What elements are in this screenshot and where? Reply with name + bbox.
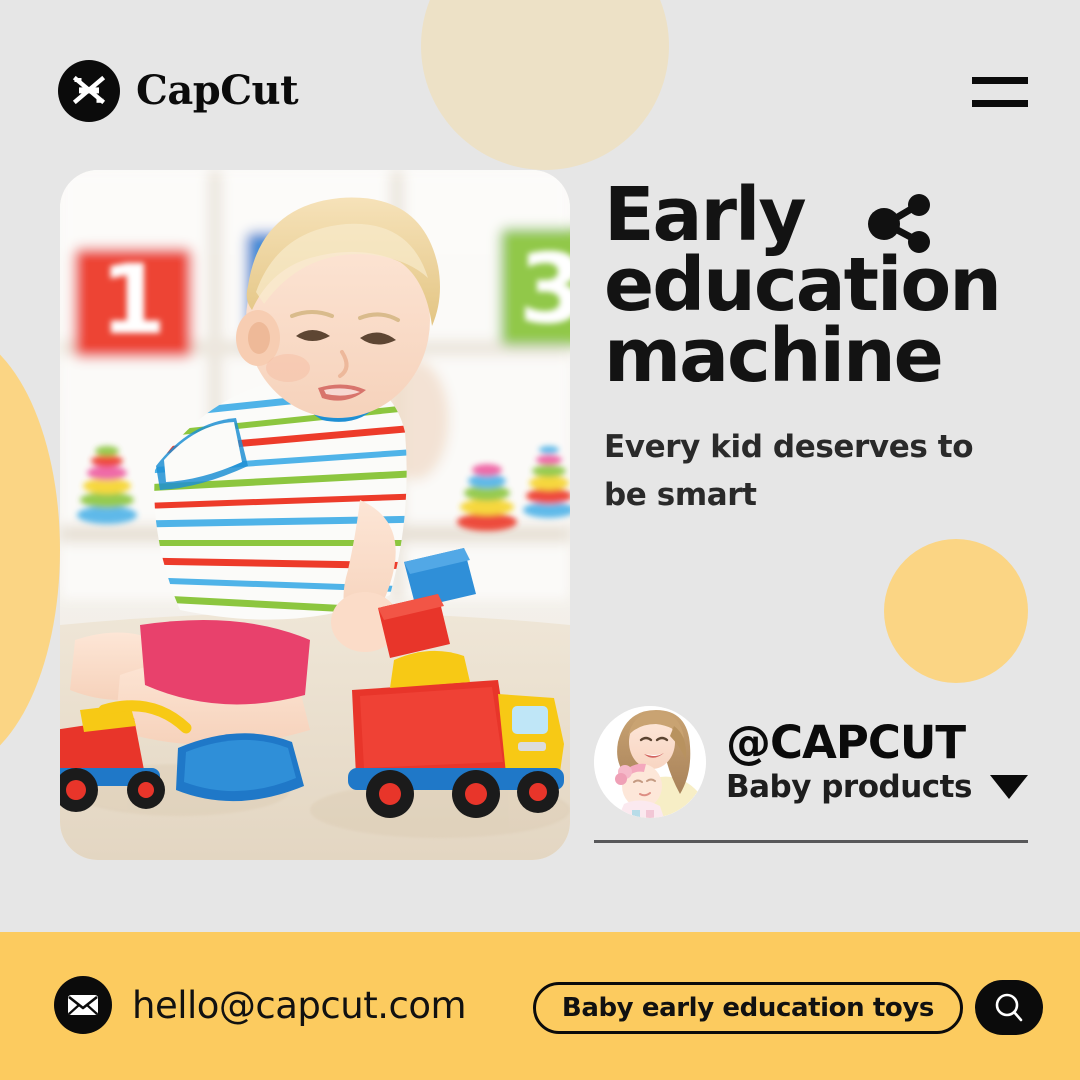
brand-logo-group[interactable]: CapCut (58, 60, 298, 122)
email-group[interactable]: hello@capcut.com (54, 976, 466, 1034)
search-group: Baby early education toys (533, 980, 1043, 1035)
search-icon (992, 991, 1026, 1025)
headline-line-1: Early (604, 180, 1034, 250)
decorative-circle-left-yellow (0, 330, 60, 770)
headline-line-2: education (604, 250, 1034, 320)
svg-text:1: 1 (100, 244, 167, 356)
email-address[interactable]: hello@capcut.com (132, 987, 466, 1024)
search-input-value: Baby early education toys (562, 993, 934, 1023)
menu-bar (972, 77, 1028, 84)
chevron-down-icon[interactable] (990, 775, 1028, 799)
headline-line-3: machine (604, 321, 1034, 391)
share-icon[interactable] (864, 192, 936, 258)
profile-handle: @CAPCUT (726, 719, 1030, 766)
svg-text:3: 3 (519, 233, 570, 345)
capcut-logo-icon (58, 60, 120, 122)
hamburger-menu-icon[interactable] (972, 73, 1028, 107)
hero-photo: 1 3 (60, 170, 570, 860)
search-button[interactable] (975, 980, 1043, 1035)
profile-category: Baby products (726, 769, 972, 805)
brand-name: CapCut (136, 71, 298, 111)
search-input[interactable]: Baby early education toys (533, 982, 963, 1034)
menu-bar (972, 100, 1028, 107)
profile-row[interactable]: @CAPCUT Baby products (594, 706, 1030, 818)
poster-canvas: CapCut (0, 0, 1080, 1080)
profile-block: @CAPCUT Baby products (594, 706, 1030, 843)
envelope-icon (54, 976, 112, 1034)
footer-bar: hello@capcut.com Baby early education to… (0, 932, 1080, 1080)
header: CapCut (0, 0, 1080, 170)
profile-text: @CAPCUT Baby products (726, 719, 1030, 804)
content-column: Early education machine Every kid deserv… (604, 180, 1034, 519)
decorative-circle-right-yellow (884, 539, 1028, 683)
profile-divider (594, 840, 1028, 843)
page-title: Early education machine (604, 180, 1034, 391)
subheading: Every kid deserves to be smart (604, 423, 1024, 519)
profile-category-row[interactable]: Baby products (726, 769, 1030, 805)
profile-avatar (594, 706, 706, 818)
